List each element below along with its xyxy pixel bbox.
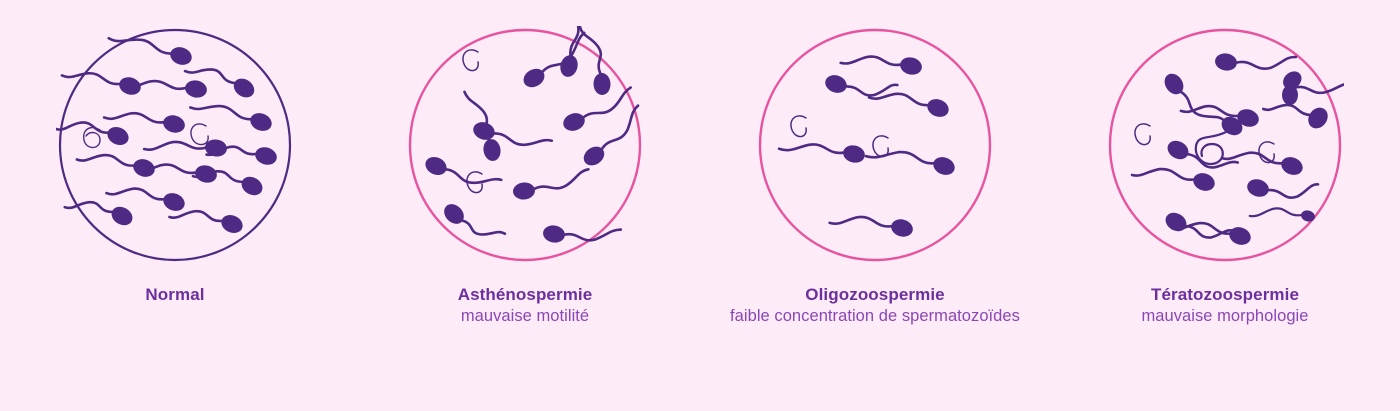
panel-teratozoospermie: Tératozoospermie mauvaise morphologie (1050, 0, 1400, 328)
dish-teratozoospermie (1106, 26, 1344, 264)
panel-title: Normal (10, 284, 340, 306)
sperm-cluster-dense-icon (56, 26, 294, 264)
caption-teratozoospermie: Tératozoospermie mauvaise morphologie (1060, 284, 1390, 328)
panel-title: Tératozoospermie (1060, 284, 1390, 306)
panel-title: Oligozoospermie (710, 284, 1040, 306)
panel-asthenospermie: Asthénospermie mauvaise motilité (350, 0, 700, 328)
dish-oligozoospermie (756, 26, 994, 264)
caption-normal: Normal (10, 284, 340, 306)
panel-subtitle: mauvaise motilité (360, 306, 690, 328)
sperm-cluster-abnormal-icon (1106, 26, 1344, 264)
panel-subtitle: mauvaise morphologie (1060, 306, 1390, 328)
caption-oligozoospermie: Oligozoospermie faible concentration de … (710, 284, 1040, 328)
dish-normal (56, 26, 294, 264)
dish-asthenospermie (406, 26, 644, 264)
sperm-cluster-sparse-icon (756, 26, 994, 264)
sperm-quality-infographic: Normal (0, 0, 1400, 411)
panel-title: Asthénospermie (360, 284, 690, 306)
panel-normal: Normal (0, 0, 350, 306)
panel-oligozoospermie: Oligozoospermie faible concentration de … (700, 0, 1050, 328)
caption-asthenospermie: Asthénospermie mauvaise motilité (360, 284, 690, 328)
sperm-cluster-disordered-icon (406, 26, 644, 264)
panel-subtitle: faible concentration de spermatozoïdes (710, 306, 1040, 328)
